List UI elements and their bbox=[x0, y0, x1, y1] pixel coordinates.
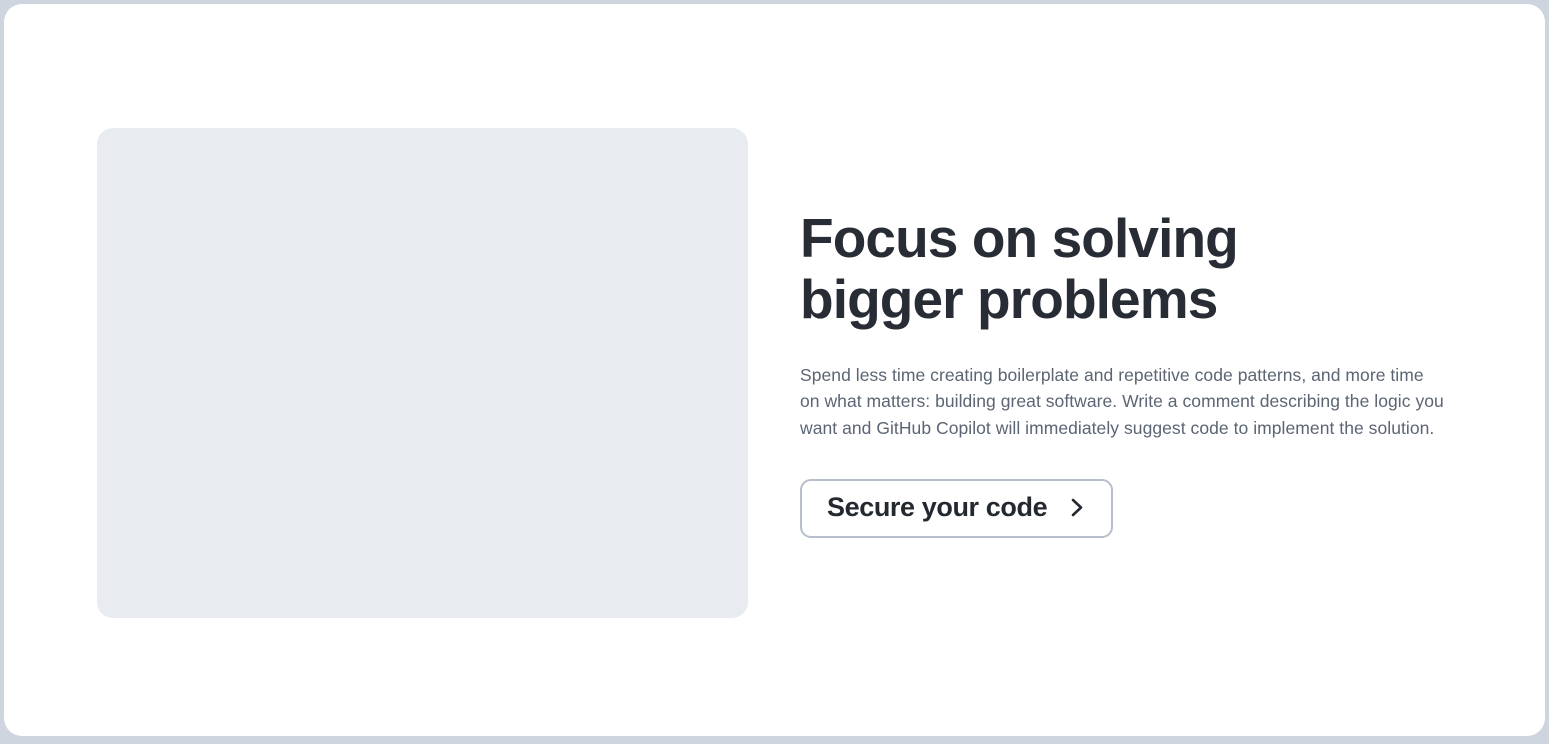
chevron-right-icon bbox=[1069, 496, 1086, 518]
feature-image-placeholder bbox=[97, 128, 748, 618]
feature-copy-block: Focus on solving bigger problems Spend l… bbox=[800, 128, 1460, 618]
feature-description: Spend less time creating boilerplate and… bbox=[800, 362, 1446, 441]
page-title: Focus on solving bigger problems bbox=[800, 208, 1380, 330]
feature-section: Focus on solving bigger problems Spend l… bbox=[4, 4, 1545, 736]
secure-your-code-button[interactable]: Secure your code bbox=[800, 479, 1113, 538]
secure-your-code-label: Secure your code bbox=[827, 494, 1047, 521]
page-card: Focus on solving bigger problems Spend l… bbox=[4, 4, 1545, 736]
